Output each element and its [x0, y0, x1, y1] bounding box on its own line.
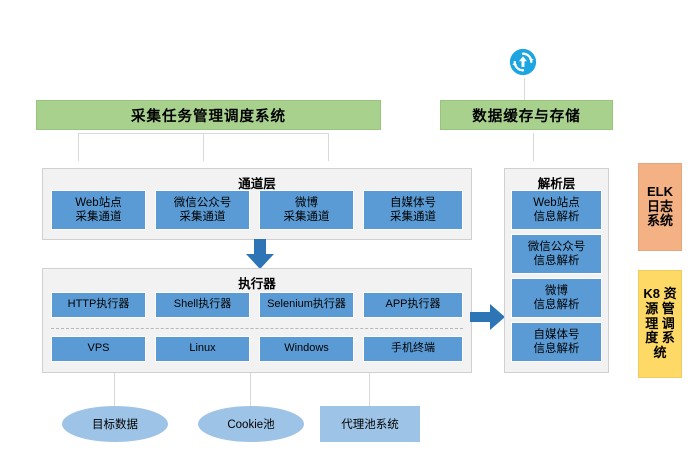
executor-cell-app[interactable]: APP执行器 — [363, 292, 463, 318]
executor-platform-divider — [51, 328, 463, 329]
connector-bottom-right — [369, 373, 370, 406]
executor-cell-app-label: APP执行器 — [385, 298, 440, 312]
channel-to-executor-arrow — [240, 239, 280, 270]
connector-scheduler-mid — [203, 133, 204, 161]
channel-cell-weibo-line1: 微博 — [284, 196, 330, 210]
scheduler-banner: 采集任务管理调度系统 — [36, 100, 381, 130]
platform-cell-mobile-label: 手机终端 — [391, 342, 435, 356]
parse-cell-weibo-line1: 微博 — [534, 284, 580, 298]
sync-upload-icon — [509, 48, 539, 78]
channel-cell-weibo-line2: 采集通道 — [284, 210, 330, 224]
parse-cell-weibo[interactable]: 微博 信息解析 — [511, 278, 602, 318]
connector-bottom-mid — [250, 373, 251, 406]
executor-cell-shell[interactable]: Shell执行器 — [155, 292, 250, 318]
channel-cell-wechat[interactable]: 微信公众号 采集通道 — [155, 190, 250, 230]
scheduler-banner-label: 采集任务管理调度系统 — [131, 105, 286, 126]
parse-cell-web[interactable]: Web站点 信息解析 — [511, 190, 602, 230]
connector-scheduler-left — [78, 133, 79, 161]
executor-to-parse-arrow — [470, 303, 506, 331]
platform-cell-mobile[interactable]: 手机终端 — [363, 336, 463, 362]
platform-cell-windows[interactable]: Windows — [259, 336, 354, 362]
elk-log-system-box[interactable]: ELK 日志 系统 — [638, 163, 682, 251]
channel-cell-web-line2: 采集通道 — [75, 210, 121, 224]
bottom-node-target-data-label: 目标数据 — [92, 416, 138, 432]
platform-cell-linux-label: Linux — [189, 342, 215, 356]
parse-cell-web-line1: Web站点 — [533, 196, 579, 210]
parse-cell-selfmedia-line2: 信息解析 — [534, 342, 580, 356]
bottom-node-cookie-pool-label: Cookie池 — [227, 416, 274, 432]
channel-cell-web[interactable]: Web站点 采集通道 — [51, 190, 146, 230]
executor-cell-selenium-label: Selenium执行器 — [267, 298, 346, 312]
k8s-resource-box[interactable]: K8 资源 管理 调度 系统 — [638, 270, 682, 378]
channel-cell-selfmedia-line1: 自媒体号 — [390, 196, 436, 210]
connector-storage-icon — [524, 78, 525, 102]
bottom-node-proxy-pool-label: 代理池系统 — [341, 416, 399, 432]
channel-cell-selfmedia[interactable]: 自媒体号 采集通道 — [363, 190, 463, 230]
parse-cell-selfmedia[interactable]: 自媒体号 信息解析 — [511, 322, 602, 362]
bottom-node-cookie-pool[interactable]: Cookie池 — [198, 406, 304, 442]
connector-storage-down — [533, 133, 534, 161]
channel-cell-web-line1: Web站点 — [75, 196, 121, 210]
elk-log-system-label: ELK 日志 系统 — [639, 185, 681, 230]
connector-bottom-left — [114, 373, 115, 406]
channel-cell-weibo[interactable]: 微博 采集通道 — [259, 190, 354, 230]
parse-cell-wechat[interactable]: 微信公众号 信息解析 — [511, 234, 602, 274]
executor-cell-selenium[interactable]: Selenium执行器 — [259, 292, 354, 318]
parse-cell-wechat-line2: 信息解析 — [528, 254, 586, 268]
executor-layer-title: 执行器 — [43, 273, 471, 292]
sync-upload-icon-glyph — [509, 48, 537, 76]
platform-cell-vps[interactable]: VPS — [51, 336, 146, 362]
executor-cell-http-label: HTTP执行器 — [68, 298, 130, 312]
architecture-diagram-canvas: 采集任务管理调度系统 数据缓存与存储 通道层 Web站点 采集通道 微信公众号 … — [0, 0, 692, 453]
storage-banner-label: 数据缓存与存储 — [472, 105, 581, 126]
bottom-node-target-data[interactable]: 目标数据 — [62, 406, 168, 442]
parse-cell-selfmedia-line1: 自媒体号 — [534, 328, 580, 342]
k8s-resource-label: K8 资源 管理 调度 系统 — [639, 287, 681, 362]
platform-cell-linux[interactable]: Linux — [155, 336, 250, 362]
parse-cell-weibo-line2: 信息解析 — [534, 298, 580, 312]
storage-banner: 数据缓存与存储 — [440, 100, 613, 130]
channel-cell-selfmedia-line2: 采集通道 — [390, 210, 436, 224]
platform-cell-windows-label: Windows — [284, 342, 329, 356]
channel-cell-wechat-line2: 采集通道 — [174, 210, 232, 224]
bottom-node-proxy-pool[interactable]: 代理池系统 — [320, 406, 420, 442]
parse-cell-wechat-line1: 微信公众号 — [528, 240, 586, 254]
platform-cell-vps-label: VPS — [87, 342, 109, 356]
executor-cell-http[interactable]: HTTP执行器 — [51, 292, 146, 318]
parse-cell-web-line2: 信息解析 — [533, 210, 579, 224]
channel-to-executor-arrow-glyph — [240, 239, 280, 270]
executor-to-parse-arrow-glyph — [470, 303, 506, 331]
executor-cell-shell-label: Shell执行器 — [174, 298, 231, 312]
channel-cell-wechat-line1: 微信公众号 — [174, 196, 232, 210]
connector-scheduler-right — [328, 133, 329, 161]
